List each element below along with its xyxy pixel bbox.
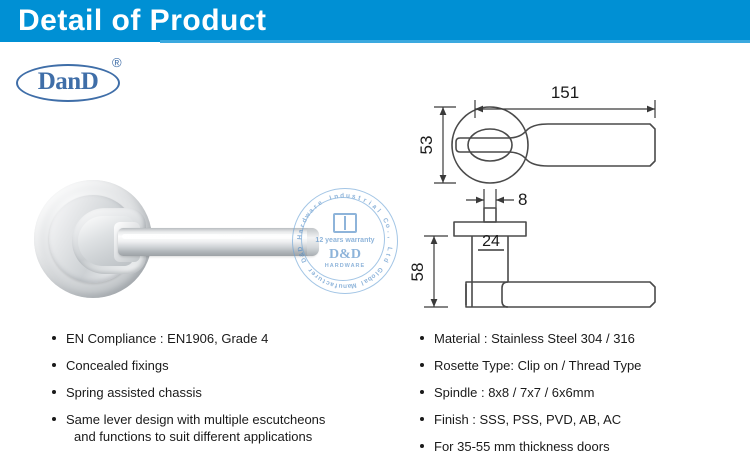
drawing-spindle: [484, 208, 496, 222]
list-item-label: For 35-55 mm thickness doors: [434, 439, 610, 451]
dim-label-8: 8: [518, 190, 527, 209]
list-item-label: Spindle : 8x8 / 7x7 / 6x6mm: [434, 385, 594, 400]
bullet-dot-icon: [420, 336, 424, 340]
list-item-label: Spring assisted chassis: [66, 385, 202, 400]
dim-label-151: 151: [551, 83, 579, 102]
bullet-dot-icon: [420, 390, 424, 394]
page-title: Detail of Product: [18, 4, 267, 38]
dim-label-58: 58: [410, 263, 427, 282]
list-item: Concealed fixings: [52, 357, 402, 374]
list-item: Finish : SSS, PSS, PVD, AB, AC: [420, 411, 740, 428]
list-item-label: EN Compliance : EN1906, Grade 4: [66, 331, 268, 346]
seal-bottom-arc-text: Global Manufacturer: [293, 189, 397, 293]
list-item-label: Material : Stainless Steel 304 / 316: [434, 331, 635, 346]
drawing-rosette-circle: [452, 107, 528, 183]
logo-brand-text: DanD: [16, 64, 120, 102]
list-item-label: Rosette Type: Clip on / Thread Type: [434, 358, 641, 373]
dim-label-53: 53: [417, 136, 436, 155]
list-item: Rosette Type: Clip on / Thread Type: [420, 357, 740, 374]
list-item: Same lever design with multiple escutche…: [52, 411, 402, 445]
list-item: Spring assisted chassis: [52, 384, 402, 401]
list-item: For 35-55 mm thickness doors: [420, 438, 740, 451]
bullet-dot-icon: [52, 336, 56, 340]
bullet-dot-icon: [52, 363, 56, 367]
spec-list-right: Material : Stainless Steel 304 / 316 Ros…: [420, 330, 740, 451]
header-underline: [160, 40, 750, 43]
registered-trademark-icon: ®: [112, 56, 122, 69]
list-item-label-continued: and functions to suit different applicat…: [66, 428, 402, 445]
bullet-dot-icon: [420, 444, 424, 448]
watermark-seal: D&D Hardware Industrial Co., Ltd 12 year…: [292, 188, 398, 294]
lever-bar: [118, 228, 318, 256]
list-item: Material : Stainless Steel 304 / 316: [420, 330, 740, 347]
product-detail-page: Detail of Product DanD ® D&D Hardware In…: [0, 0, 750, 451]
lever-specular-highlight: [122, 234, 314, 239]
bullet-dot-icon: [52, 390, 56, 394]
bullet-dot-icon: [420, 417, 424, 421]
list-item-label: Finish : SSS, PSS, PVD, AB, AC: [434, 412, 621, 427]
list-item: EN Compliance : EN1906, Grade 4: [52, 330, 402, 347]
list-item: Spindle : 8x8 / 7x7 / 6x6mm: [420, 384, 740, 401]
spec-list-left: EN Compliance : EN1906, Grade 4 Conceale…: [52, 330, 402, 451]
list-item-label: Same lever design with multiple escutche…: [66, 412, 325, 427]
bullet-dot-icon: [420, 363, 424, 367]
list-item-label: Concealed fixings: [66, 358, 169, 373]
dim-label-24: 24: [482, 233, 500, 250]
brand-logo: DanD ®: [16, 56, 136, 104]
drawing-lever-side: [466, 282, 655, 307]
header-bar: Detail of Product: [0, 0, 750, 42]
technical-drawing: 151 53 8: [410, 50, 750, 320]
bullet-dot-icon: [52, 417, 56, 421]
